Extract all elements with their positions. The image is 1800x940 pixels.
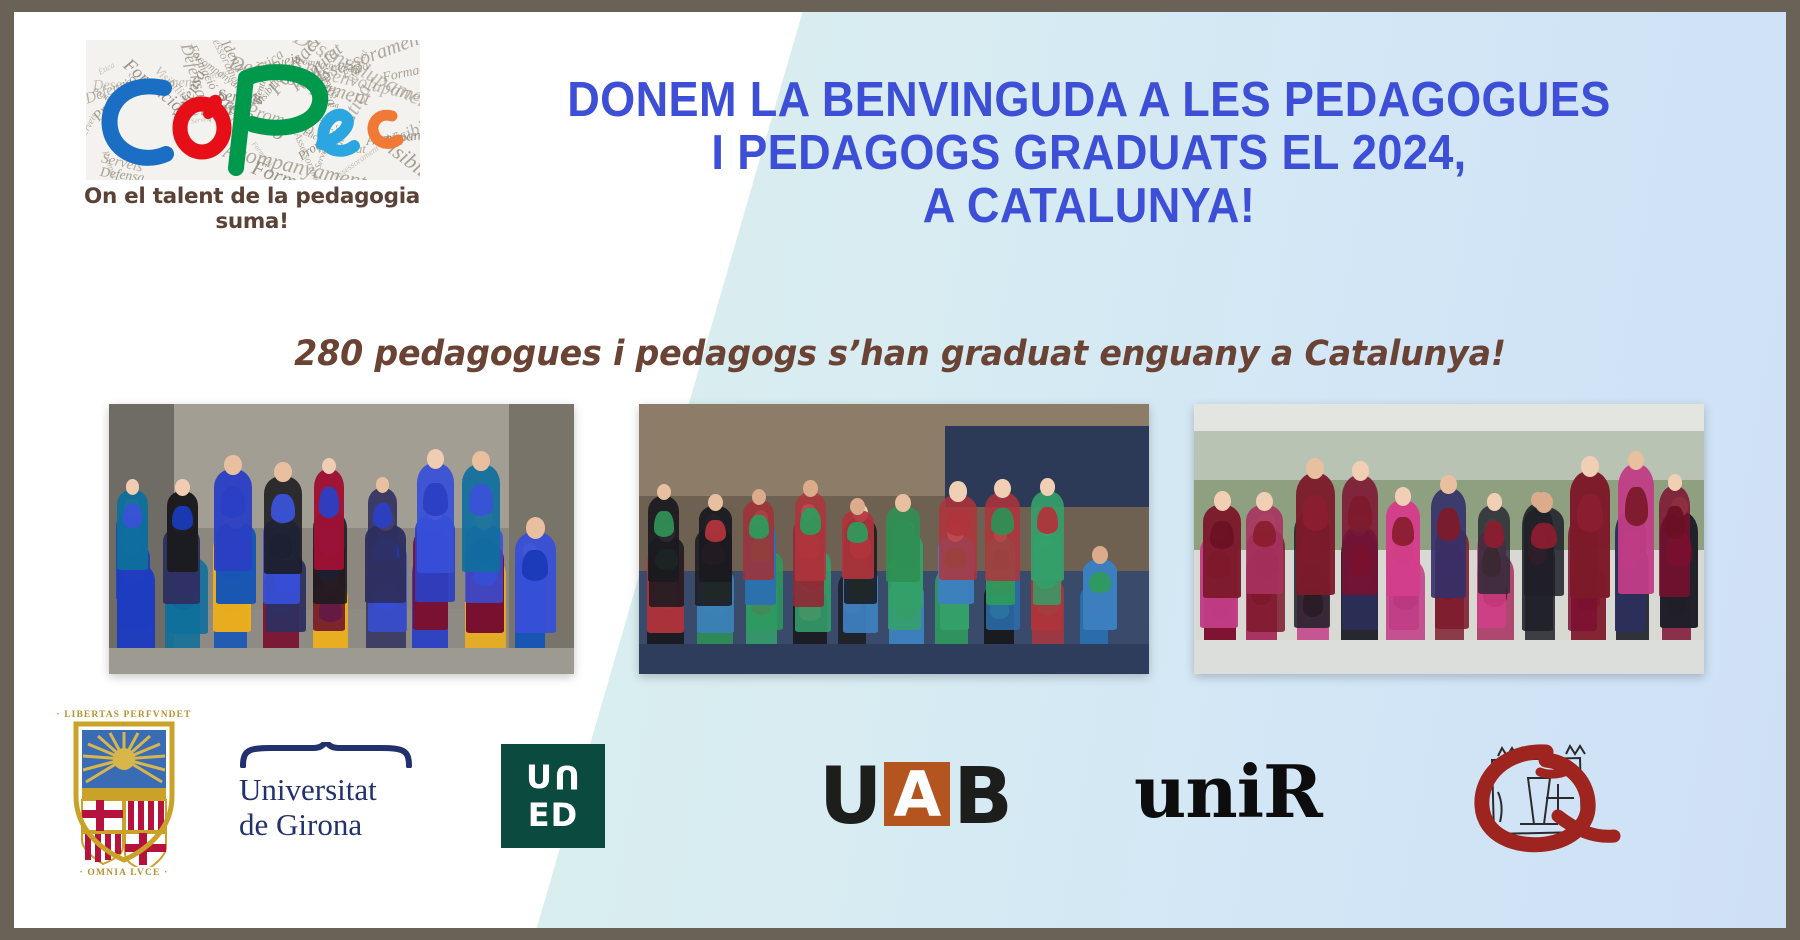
photo-person bbox=[842, 510, 874, 579]
photo-person bbox=[939, 495, 977, 580]
photo-foreground bbox=[1194, 640, 1704, 674]
subtitle: 280 pedagogues i pedagogs s’han graduat … bbox=[58, 334, 1741, 374]
photo-person-head bbox=[126, 479, 140, 495]
photo-person bbox=[1031, 491, 1064, 581]
uned-wordmark: UUED bbox=[501, 758, 605, 834]
photo-person-sash bbox=[1089, 572, 1111, 593]
photo-person bbox=[314, 469, 344, 570]
photo-person-sash bbox=[1303, 495, 1328, 532]
universitat-de-girona-logo: Universitat de Girona bbox=[239, 742, 439, 842]
photo-person bbox=[515, 532, 556, 633]
photo-person-sash bbox=[892, 520, 914, 543]
photo-person-sash bbox=[1437, 508, 1460, 541]
graduation-photo-terrace bbox=[1194, 404, 1704, 674]
uab-letter-a: A bbox=[884, 762, 950, 826]
uab-letter-b: B bbox=[953, 767, 1011, 828]
headline-line-1: DONEM LA BENVINGUDA A LES PEDAGOGUES bbox=[496, 74, 1683, 127]
university-logo-row: · LIBERTAS PERFVNDET · bbox=[14, 702, 1786, 892]
photo-foreground bbox=[109, 648, 574, 674]
universitat-de-barcelona-logo: · LIBERTAS PERFVNDET · bbox=[54, 702, 194, 878]
photo-person bbox=[1431, 488, 1467, 598]
photo-person bbox=[886, 506, 920, 581]
photo-person-head bbox=[1040, 478, 1055, 496]
photo-person-head bbox=[1395, 487, 1411, 505]
photo-person-head bbox=[803, 480, 818, 497]
photo-person bbox=[1386, 500, 1420, 596]
photo-person-sash bbox=[1625, 487, 1648, 526]
udg-brace-icon bbox=[239, 742, 414, 768]
page-title: DONEM LA BENVINGUDA A LES PEDAGOGUES I P… bbox=[496, 74, 1683, 233]
copec-letters-icon bbox=[86, 40, 420, 180]
photo-backdrop bbox=[1194, 404, 1704, 431]
photo-person bbox=[167, 491, 199, 572]
photo-person-sash bbox=[423, 483, 447, 516]
logo-tagline: On el talent de la pedagogia suma! bbox=[82, 184, 422, 234]
photo-person-sash bbox=[1577, 494, 1603, 532]
photo-person-sash bbox=[1037, 507, 1058, 534]
photo-person-head bbox=[1487, 493, 1502, 510]
ub-motto-top: · LIBERTAS PERFVNDET · bbox=[54, 710, 194, 730]
photo-person bbox=[1083, 559, 1118, 630]
photo-person-head bbox=[1256, 492, 1273, 511]
photo-person bbox=[648, 496, 679, 582]
udg-line-2: de Girona bbox=[239, 808, 439, 843]
photo-person-sash bbox=[123, 504, 142, 528]
photo-person-head bbox=[1440, 475, 1456, 494]
photo-row bbox=[14, 404, 1786, 679]
uab-logo: U A B bbox=[819, 754, 1012, 828]
photo-person-head bbox=[526, 517, 545, 539]
photo-person bbox=[117, 490, 147, 570]
udg-line-1: Universitat bbox=[239, 773, 439, 808]
photo-person bbox=[1478, 505, 1510, 593]
photo-person bbox=[795, 492, 827, 581]
photo-person-head bbox=[175, 479, 190, 496]
photo-person-head bbox=[1306, 458, 1324, 478]
photo-person-sash bbox=[522, 550, 548, 580]
photo-person bbox=[743, 500, 774, 580]
photo-person-head bbox=[994, 479, 1010, 498]
photo-person-sash bbox=[1531, 523, 1557, 550]
photo-person-head bbox=[949, 481, 966, 501]
photo-person-sash bbox=[1392, 517, 1414, 546]
photo-person-head bbox=[224, 455, 242, 475]
photo-person bbox=[462, 464, 500, 571]
photo-person bbox=[1659, 486, 1690, 597]
photo-person-sash bbox=[800, 508, 820, 535]
photo-person-sash bbox=[705, 520, 726, 543]
graduation-photo-stairs bbox=[109, 404, 574, 674]
photo-person bbox=[214, 469, 253, 571]
photo-foreground bbox=[639, 644, 1149, 674]
photo-person-head bbox=[895, 494, 911, 512]
graduation-photo-auditorium bbox=[639, 404, 1149, 674]
photo-person-sash bbox=[1348, 496, 1372, 532]
photo-person-sash bbox=[221, 487, 246, 518]
photo-person bbox=[368, 488, 398, 571]
photo-person bbox=[1570, 471, 1610, 598]
headline-line-2: I PEDAGOGS GRADUATS EL 2024, bbox=[496, 127, 1683, 180]
photo-person bbox=[1296, 473, 1335, 595]
photo-person-sash bbox=[654, 511, 674, 537]
uned-logo: UUED bbox=[501, 744, 605, 848]
photo-person-head bbox=[427, 449, 444, 469]
photo-person-sash bbox=[1210, 521, 1234, 549]
photo-person bbox=[264, 476, 302, 574]
photo-person-sash bbox=[991, 508, 1014, 535]
copec-logo: ÈticaServeisIdentitatAcompanyamentPromoc… bbox=[76, 34, 426, 224]
photo-person bbox=[1342, 475, 1379, 595]
photo-person-head bbox=[1668, 474, 1682, 490]
photo-person-sash bbox=[319, 487, 338, 517]
photo-person bbox=[699, 506, 731, 581]
photo-person-sash bbox=[172, 506, 192, 530]
photo-person bbox=[1203, 505, 1240, 598]
photo-person-sash bbox=[1253, 521, 1276, 548]
photo-person-head bbox=[322, 458, 336, 474]
photo-person-sash bbox=[749, 515, 769, 539]
uab-letter-u: U bbox=[819, 767, 881, 828]
photo-person-head bbox=[1352, 461, 1369, 480]
photo-person bbox=[985, 492, 1021, 581]
headline-line-3: A CATALUNYA! bbox=[496, 180, 1683, 233]
photo-person bbox=[1618, 464, 1654, 594]
photo-person bbox=[1246, 505, 1282, 594]
photo-person-sash bbox=[1484, 521, 1505, 547]
photo-person-sash bbox=[373, 503, 392, 528]
photo-person-head bbox=[274, 462, 292, 482]
photo-person-head bbox=[752, 489, 766, 506]
url-brush-icon bbox=[1454, 732, 1624, 857]
poster-canvas: ÈticaServeisIdentitatAcompanyamentPromoc… bbox=[14, 12, 1786, 928]
photo-person-sash bbox=[847, 522, 868, 543]
photo-person bbox=[417, 463, 455, 573]
photo-person-head bbox=[1214, 491, 1231, 511]
photo-person-head bbox=[472, 451, 489, 471]
unir-wordmark: uniR bbox=[1134, 760, 1322, 825]
universitat-ramon-llull-logo bbox=[1454, 732, 1624, 857]
photo-person-sash bbox=[946, 511, 970, 536]
photo-person-sash bbox=[271, 494, 295, 523]
photo-person-sash bbox=[1665, 506, 1685, 539]
photo-person-sash bbox=[469, 484, 493, 516]
photo-person bbox=[1524, 507, 1565, 596]
ub-motto-bottom: · OMNIA LVCE · bbox=[54, 868, 194, 878]
unir-logo: uniR bbox=[1134, 760, 1322, 825]
